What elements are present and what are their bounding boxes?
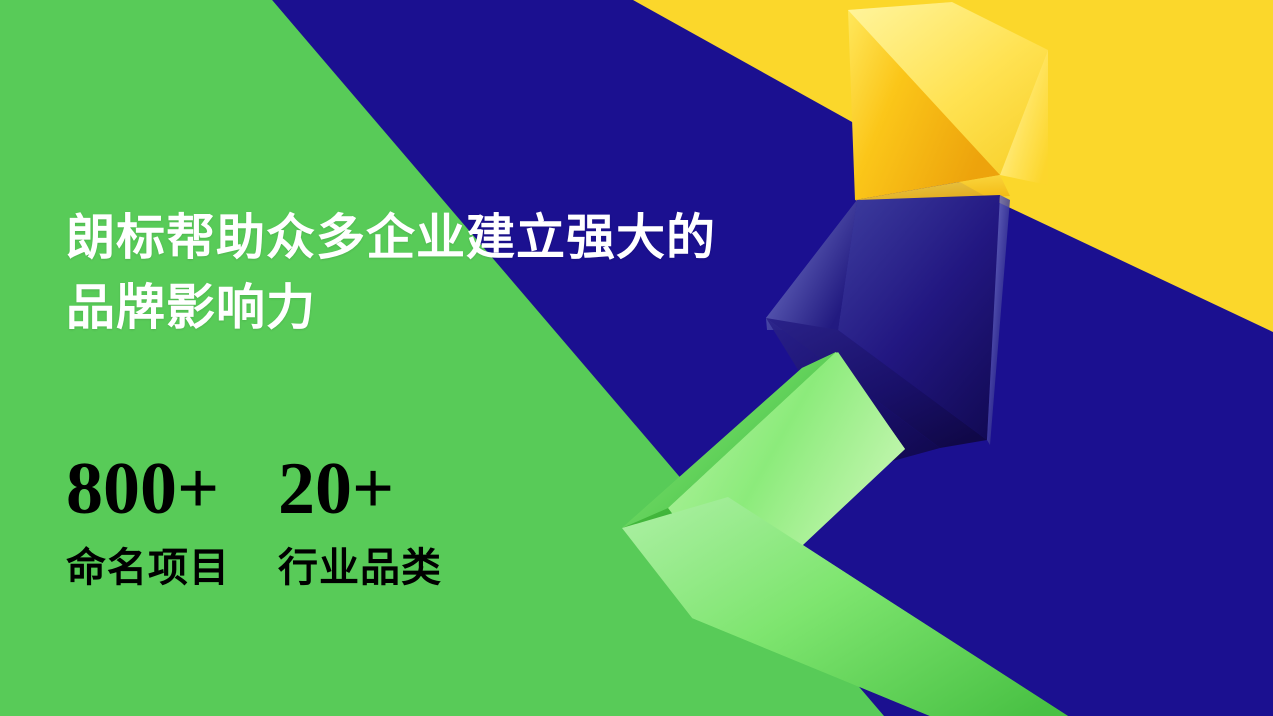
stat-label-industries: 行业品类: [278, 548, 442, 588]
marketing-slide: 朗标帮助众多企业建立强大的 品牌影响力 800+ 命名项目 20+ 行业品类: [0, 0, 1273, 716]
stat-item-projects: 800+ 命名项目: [66, 452, 230, 588]
stat-item-industries: 20+ 行业品类: [278, 452, 442, 588]
stats-group: 800+ 命名项目 20+ 行业品类: [66, 452, 442, 588]
background-graphic: [0, 0, 1273, 716]
stat-value-industries: 20+: [278, 452, 394, 526]
page-title: 朗标帮助众多企业建立强大的 品牌影响力: [66, 203, 846, 342]
stat-value-projects: 800+: [66, 452, 219, 526]
stat-label-projects: 命名项目: [66, 548, 230, 588]
